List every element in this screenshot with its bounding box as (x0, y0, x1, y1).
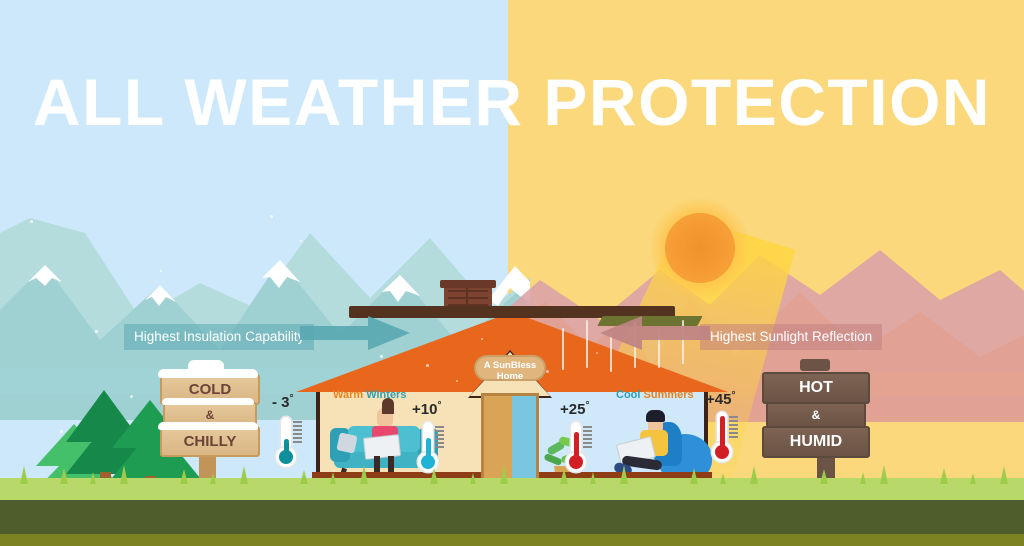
thermometer-outdoor-cold: - 3° (270, 393, 294, 411)
infographic-canvas: ALL WEATHER PROTECTION COLD & CHILLY (0, 0, 1024, 546)
banner-insulation-label: Highest Insulation Capability (134, 329, 304, 344)
ground-dark (0, 500, 1024, 534)
banner-reflection[interactable]: Highest Sunlight Reflection (700, 324, 882, 350)
label-summers: Summers (644, 389, 694, 401)
thermometer-outdoor-hot: +45° (706, 390, 735, 408)
banner-insulation[interactable]: Highest Insulation Capability (124, 324, 314, 350)
thermometer-indoor-cool: +25° (560, 400, 589, 418)
sign-text-amp: & (206, 408, 215, 422)
sign-plank-1: HOT (762, 372, 870, 404)
label-winters: Winters (366, 389, 406, 401)
temp-value-hot: +45° (706, 390, 735, 408)
sign-plank-2: & (766, 402, 866, 428)
sign-text-hot: HOT (799, 379, 833, 396)
label-cool: Cool (616, 389, 640, 401)
thermometer-indoor-warm: +10° (412, 400, 441, 418)
sign-plank-3: HUMID (762, 426, 870, 458)
sign-text-amp: & (812, 408, 821, 422)
temp-value-cold: - 3° (272, 393, 294, 411)
banner-insulation-tail (307, 324, 607, 360)
hot-humid-sign[interactable]: HOT & HUMID (762, 370, 866, 462)
banner-reflection-label: Highest Sunlight Reflection (710, 329, 872, 344)
chimney-cap (440, 280, 496, 288)
cold-chilly-sign[interactable]: COLD & CHILLY (160, 372, 256, 462)
sign-text-humid: HUMID (790, 433, 842, 450)
sign-text-cold: COLD (189, 381, 232, 398)
sun-icon (665, 213, 735, 283)
temp-value-warm: +10° (412, 400, 441, 418)
label-warm: Warm (333, 389, 363, 401)
ground-bottom-strip (0, 534, 1024, 546)
temp-value-cool: +25° (560, 400, 589, 418)
plaque-line-2: Home (476, 371, 544, 382)
plaque-line-1: A SunBless (476, 360, 544, 371)
label-cool-summers: Cool Summers (616, 389, 694, 401)
sign-plank-3: CHILLY (160, 426, 260, 457)
page-title: ALL WEATHER PROTECTION (0, 66, 1024, 138)
arrow-reflection-left (600, 316, 720, 360)
sign-text-chilly: CHILLY (184, 433, 237, 450)
label-warm-winters: Warm Winters (333, 389, 406, 401)
grass-tufts (0, 462, 1024, 484)
